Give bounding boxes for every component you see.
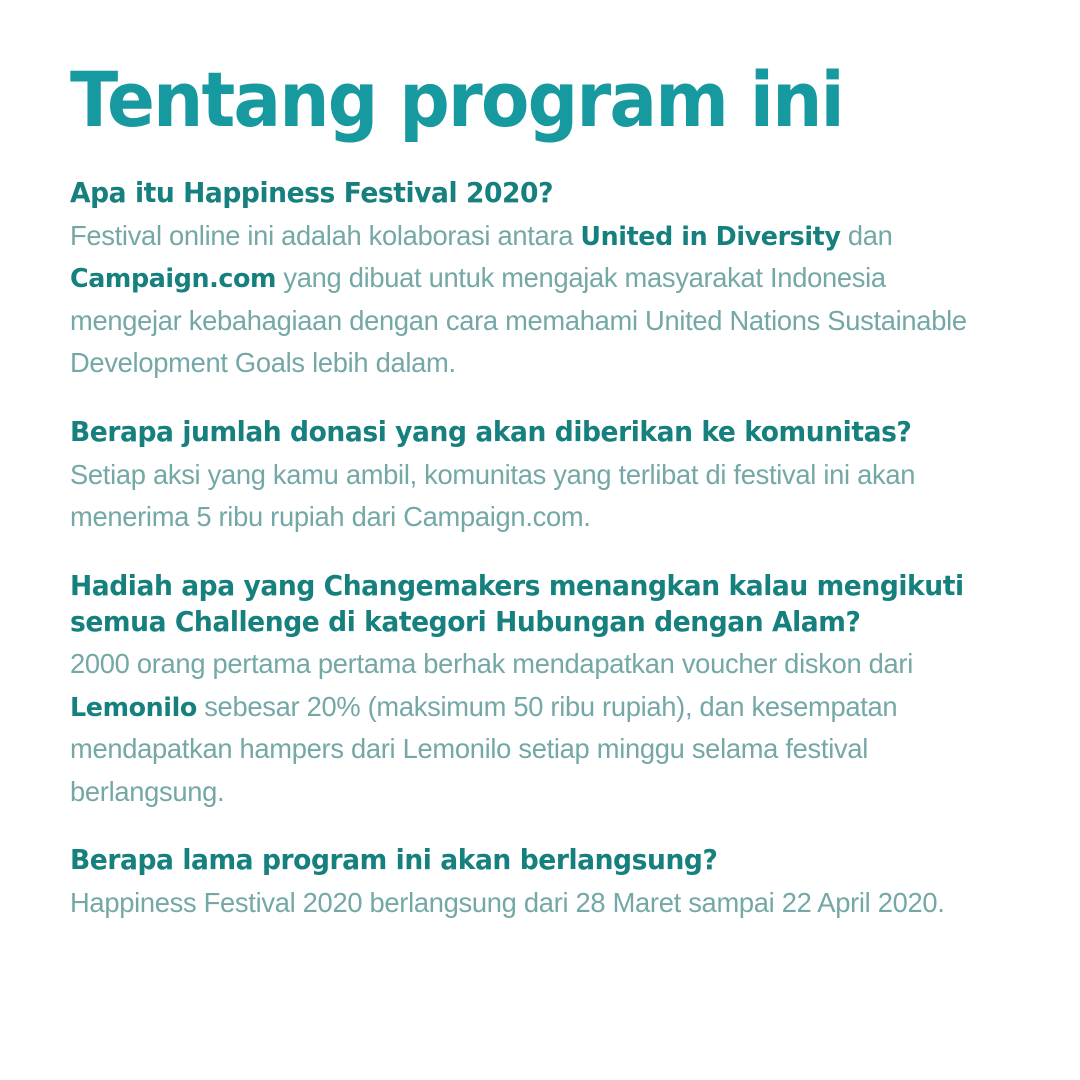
faq-item: Hadiah apa yang Changemakers menangkan k… (70, 569, 1014, 814)
faq-item: Berapa lama program ini akan berlangsung… (70, 843, 1014, 924)
page-title: Tentang program ini (70, 62, 948, 138)
about-program-slide: Tentang program ini Apa itu Happiness Fe… (0, 0, 1080, 1080)
faq-question: Apa itu Happiness Festival 2020? (70, 176, 981, 212)
faq-item: Apa itu Happiness Festival 2020? Festiva… (70, 176, 1014, 385)
faq-question: Hadiah apa yang Changemakers menangkan k… (70, 569, 981, 641)
faq-list: Apa itu Happiness Festival 2020? Festiva… (70, 176, 1014, 925)
faq-answer: 2000 orang pertama pertama berhak mendap… (70, 643, 990, 813)
faq-answer: Festival online ini adalah kolaborasi an… (70, 215, 990, 385)
faq-answer: Happiness Festival 2020 berlangsung dari… (70, 882, 990, 925)
faq-item: Berapa jumlah donasi yang akan diberikan… (70, 415, 1014, 539)
faq-question: Berapa jumlah donasi yang akan diberikan… (70, 415, 981, 451)
faq-question: Berapa lama program ini akan berlangsung… (70, 843, 981, 879)
faq-answer: Setiap aksi yang kamu ambil, komunitas y… (70, 454, 990, 539)
